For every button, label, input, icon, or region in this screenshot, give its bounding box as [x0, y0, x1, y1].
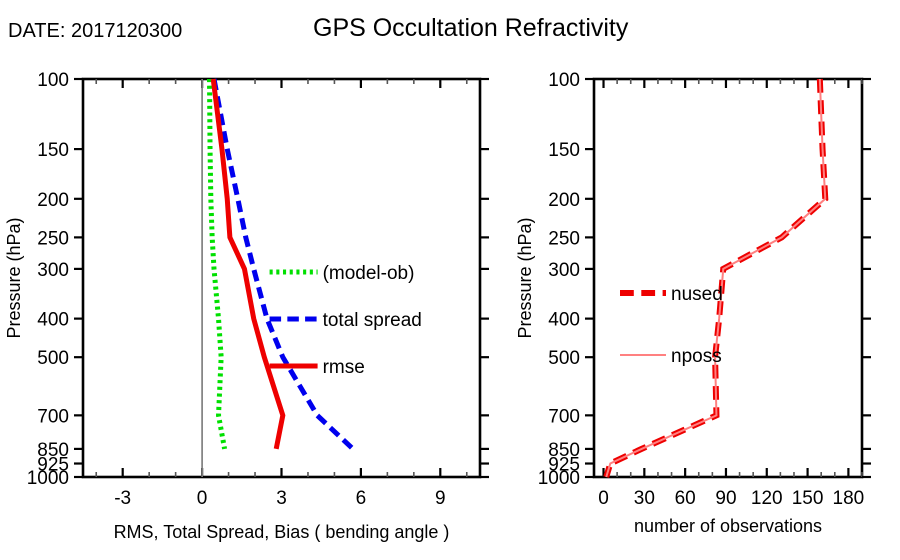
y-tick-label: 400 — [37, 310, 69, 331]
x-tick-label: 0 — [197, 488, 208, 509]
x-tick-label: 6 — [356, 488, 367, 509]
y-tick-label: 150 — [37, 140, 69, 161]
x-tick-label: 0 — [598, 488, 609, 509]
legend-label-modelob: (model-ob) — [323, 263, 415, 284]
figure-canvas: DATE: 2017120300 GPS Occultation Refract… — [0, 0, 900, 560]
y-tick-label: 250 — [548, 228, 580, 249]
legend-label-totalspread: total spread — [323, 310, 422, 331]
x-tick-label: 3 — [276, 488, 287, 509]
y-tick-label: 250 — [37, 228, 69, 249]
y-tick-label: 1000 — [27, 468, 69, 489]
x-tick-label: -3 — [114, 488, 131, 509]
x-tick-label: 120 — [751, 488, 783, 509]
plots-svg: -303691001502002503004005007008509251000… — [0, 0, 900, 560]
x-axis-label: RMS, Total Spread, Bias ( bending angle … — [114, 522, 450, 542]
panel-right: 0306090120150180100150200250300400500700… — [515, 70, 871, 536]
y-tick-label: 300 — [37, 260, 69, 281]
legend-label-nposs: nposs — [671, 346, 722, 367]
y-axis-label: Pressure (hPa) — [4, 217, 24, 338]
series-line-nused — [606, 79, 825, 477]
x-tick-label: 30 — [634, 488, 655, 509]
x-tick-label: 150 — [792, 488, 824, 509]
x-tick-label: 60 — [675, 488, 696, 509]
x-tick-label: 180 — [833, 488, 865, 509]
panel-left: -303691001502002503004005007008509251000… — [4, 70, 489, 542]
y-tick-label: 400 — [548, 310, 580, 331]
legend-label-rmse: rmse — [323, 357, 365, 378]
y-tick-label: 700 — [548, 406, 580, 427]
x-tick-label: 90 — [715, 488, 736, 509]
y-tick-label: 1000 — [538, 468, 580, 489]
page-title: GPS Occultation Refractivity — [313, 14, 628, 43]
y-tick-label: 150 — [548, 140, 580, 161]
y-tick-label: 100 — [37, 70, 69, 91]
y-tick-label: 500 — [548, 348, 580, 369]
date-label: DATE: 2017120300 — [8, 20, 182, 43]
y-tick-label: 500 — [37, 348, 69, 369]
y-tick-label: 200 — [37, 190, 69, 211]
legend-label-nused: nused — [671, 284, 723, 305]
y-tick-label: 200 — [548, 190, 580, 211]
y-tick-label: 300 — [548, 260, 580, 281]
y-axis-label: Pressure (hPa) — [515, 217, 535, 338]
x-axis-label: number of observations — [634, 516, 822, 536]
y-tick-label: 700 — [37, 406, 69, 427]
y-tick-label: 100 — [548, 70, 580, 91]
x-tick-label: 9 — [435, 488, 446, 509]
